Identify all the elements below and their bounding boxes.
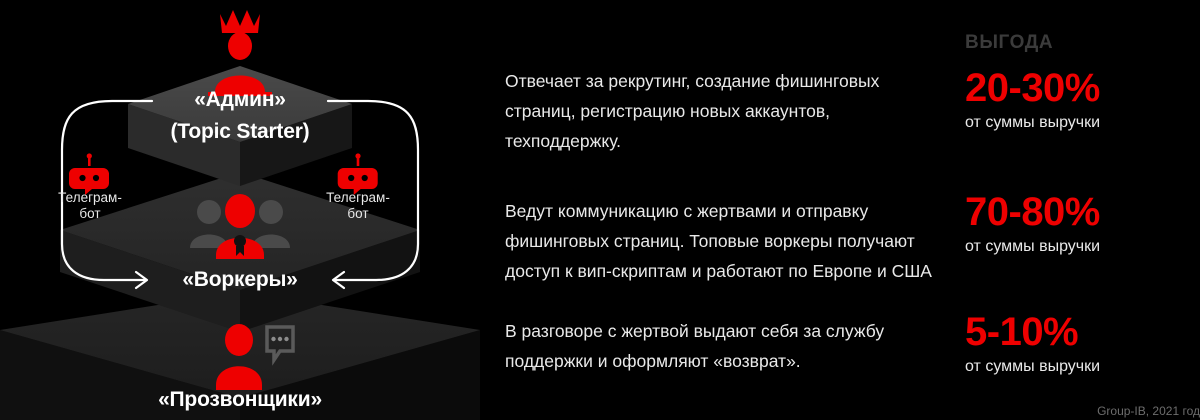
benefit-callers: 5-10% от суммы выручки [965,310,1200,378]
telegram-bot-label-right-line2: бот [347,206,368,221]
benefit-value-callers: 5-10% [965,310,1200,354]
hierarchy-pyramid-diagram: «Админ» (Topic Starter) «Воркеры» «Прозв… [0,0,480,420]
benefit-sub-admin: от суммы выручки [965,112,1200,134]
benefit-column-heading: ВЫГОДА [965,32,1053,54]
telegram-bot-label-right: Телеграм- бот [303,190,413,222]
benefit-column: ВЫГОДА 20-30% от суммы выручки 70-80% от… [960,0,1200,420]
description-workers: Ведут коммуникацию с жертвами и отправку… [505,196,945,286]
benefit-sub-workers: от суммы выручки [965,236,1200,258]
benefit-value-workers: 70-80% [965,190,1200,234]
benefit-admin: 20-30% от суммы выручки [965,66,1200,134]
telegram-bot-icon-right [338,153,378,195]
benefit-workers: 70-80% от суммы выручки [965,190,1200,258]
telegram-bot-icon-left [69,153,109,195]
telegram-bot-label-left-line2: бот [79,206,100,221]
description-admin: Отвечает за рекрутинг, создание фишингов… [505,66,945,156]
benefit-sub-callers: от суммы выручки [965,356,1200,378]
source-attribution: Group-IB, 2021 год [985,404,1200,418]
benefit-value-admin: 20-30% [965,66,1200,110]
description-callers: В разговоре с жертвой выдают себя за слу… [505,316,945,376]
telegram-bot-label-left: Телеграм- бот [35,190,145,222]
telegram-bot-label-left-line1: Телеграм- [58,190,122,205]
telegram-bot-label-right-line1: Телеграм- [326,190,390,205]
description-column: Отвечает за рекрутинг, создание фишингов… [505,0,955,420]
infographic-root: «Админ» (Topic Starter) «Воркеры» «Прозв… [0,0,1200,420]
